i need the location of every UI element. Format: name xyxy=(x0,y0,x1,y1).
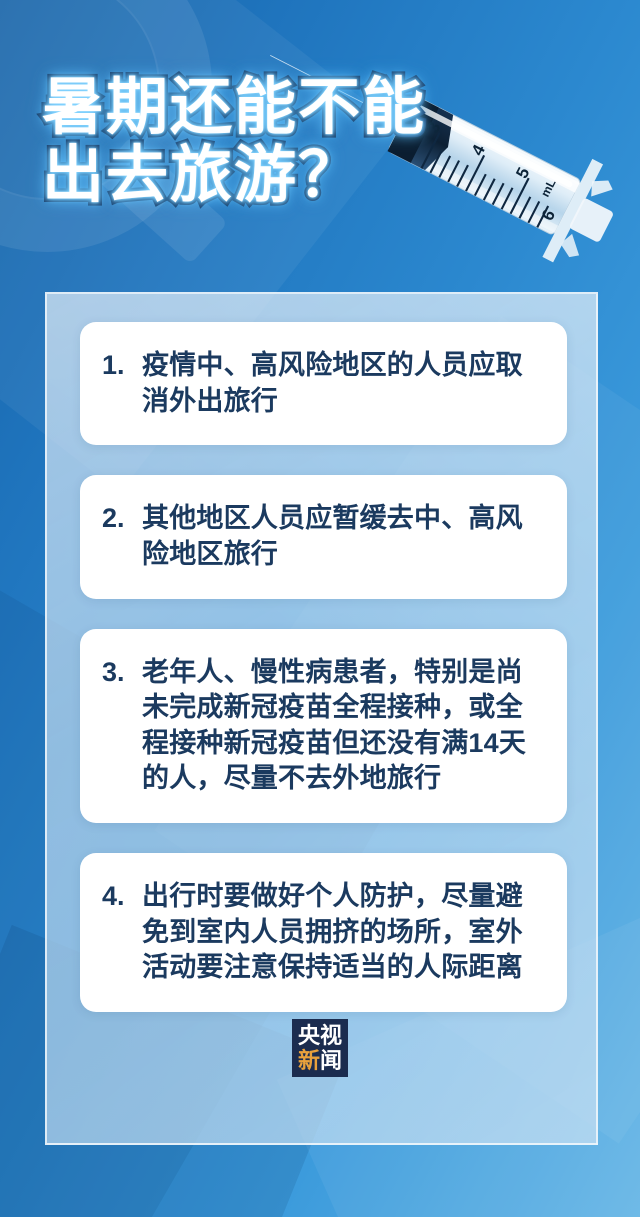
rule-card: 2. 其他地区人员应暂缓去中、高风险地区旅行 xyxy=(80,475,567,598)
rule-text: 其他地区人员应暂缓去中、高风险地区旅行 xyxy=(142,501,543,572)
cctv-news-logo: 央视 新 闻 xyxy=(292,1019,348,1077)
logo-text-wen: 闻 xyxy=(320,1050,342,1072)
headline: 暑期还能不能 出去旅游？ xyxy=(42,76,512,209)
headline-line-1: 暑期还能不能 xyxy=(42,76,512,140)
rule-number: 3. xyxy=(102,655,136,691)
rule-number: 4. xyxy=(102,879,136,915)
logo-line-bottom: 新 闻 xyxy=(298,1050,342,1072)
rule-number: 1. xyxy=(102,348,136,384)
headline-line-2: 出去旅游？ xyxy=(42,144,512,208)
svg-text:6: 6 xyxy=(538,207,559,224)
rule-card: 4. 出行时要做好个人防护，尽量避免到室内人员拥挤的场所，室外活动要注意保持适当… xyxy=(80,853,567,1012)
rule-text: 老年人、慢性病患者，特别是尚未完成新冠疫苗全程接种，或全程接种新冠疫苗但还没有满… xyxy=(142,655,543,798)
rule-text: 疫情中、高风险地区的人员应取消外出旅行 xyxy=(142,348,543,419)
rule-card: 3. 老年人、慢性病患者，特别是尚未完成新冠疫苗全程接种，或全程接种新冠疫苗但还… xyxy=(80,629,567,824)
logo-text-yangshi: 央视 xyxy=(298,1025,342,1047)
content-panel: 1. 疫情中、高风险地区的人员应取消外出旅行 2. 其他地区人员应暂缓去中、高风… xyxy=(45,292,598,1145)
rules-card-list: 1. 疫情中、高风险地区的人员应取消外出旅行 2. 其他地区人员应暂缓去中、高风… xyxy=(80,322,567,1012)
logo-line-top: 央视 xyxy=(298,1025,342,1047)
rule-card: 1. 疫情中、高风险地区的人员应取消外出旅行 xyxy=(80,322,567,445)
logo-text-xin: 新 xyxy=(298,1050,320,1072)
rule-number: 2. xyxy=(102,501,136,537)
svg-text:mL: mL xyxy=(538,177,559,199)
poster-root: 3 4 5 mL 6 暑期还能不能 出去旅游？ 1. 疫情中、高风险地区 xyxy=(0,0,640,1217)
rule-text: 出行时要做好个人防护，尽量避免到室内人员拥挤的场所，室外活动要注意保持适当的人际… xyxy=(142,879,543,986)
svg-text:5: 5 xyxy=(512,164,533,181)
